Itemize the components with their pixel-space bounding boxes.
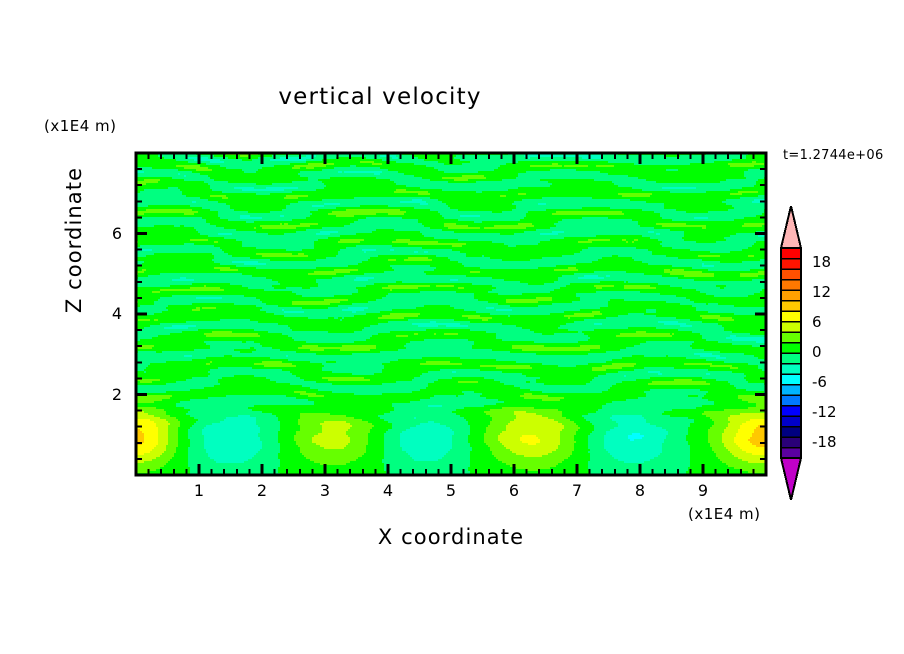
x-tick-label: 7 [565,481,589,500]
x-tick-label: 1 [187,481,211,500]
colorbar-tick-label: -18 [812,433,837,451]
y-tick-label: 6 [92,224,122,243]
colorbar-tick-label: 6 [812,313,822,331]
x-tick-label: 9 [691,481,715,500]
x-tick-label: 5 [439,481,463,500]
x-tick-label: 2 [250,481,274,500]
y-tick-label: 4 [92,304,122,323]
colorbar-tick-label: 0 [812,343,822,361]
x-tick-label: 4 [376,481,400,500]
figure-root: vertical velocity (x1E4 m) t=1.2744e+06 … [0,0,904,654]
y-tick-label: 2 [92,385,122,404]
contour-field [136,153,766,475]
colorbar-tick-label: -6 [812,373,827,391]
colorbar [781,206,801,500]
plot-canvas [0,0,904,654]
x-tick-label: 3 [313,481,337,500]
colorbar-tick-label: -12 [812,403,837,421]
x-tick-label: 6 [502,481,526,500]
colorbar-tick-label: 12 [812,283,831,301]
x-tick-label: 8 [628,481,652,500]
colorbar-tick-label: 18 [812,253,831,271]
